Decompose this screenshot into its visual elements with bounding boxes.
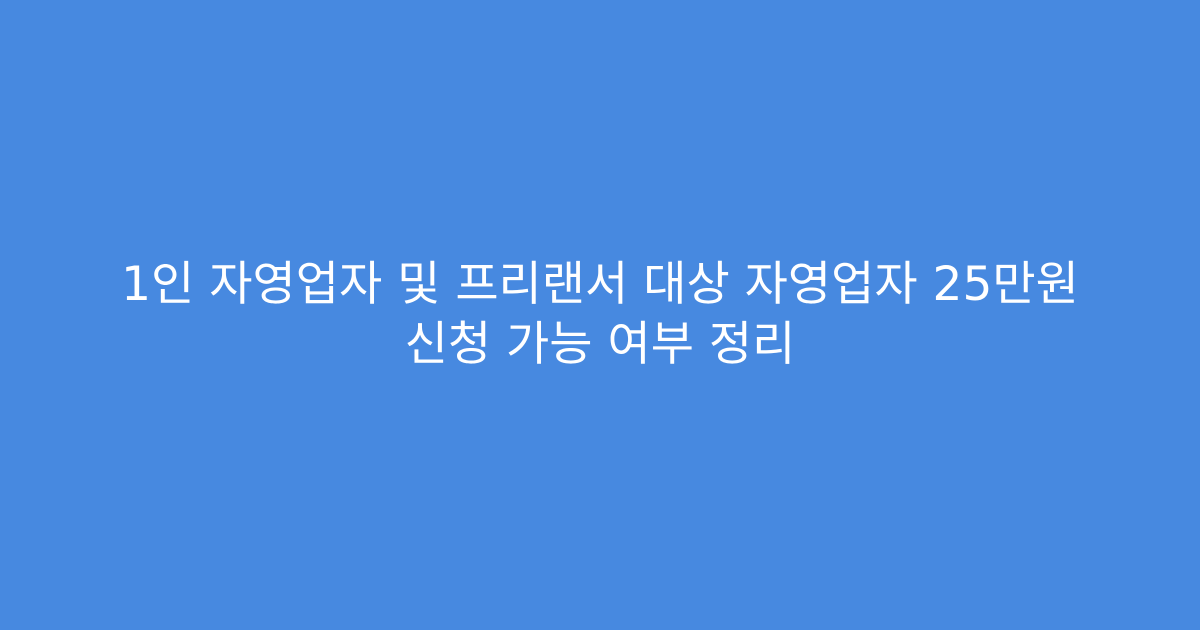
- og-card-canvas: 1인 자영업자 및 프리랜서 대상 자영업자 25만원 신청 가능 여부 정리: [0, 0, 1200, 630]
- page-title: 1인 자영업자 및 프리랜서 대상 자영업자 25만원 신청 가능 여부 정리: [70, 255, 1130, 375]
- page-title-line-1: 1인 자영업자 및 프리랜서 대상 자영업자 25만원: [90, 255, 1110, 315]
- page-title-line-2: 신청 가능 여부 정리: [90, 315, 1110, 375]
